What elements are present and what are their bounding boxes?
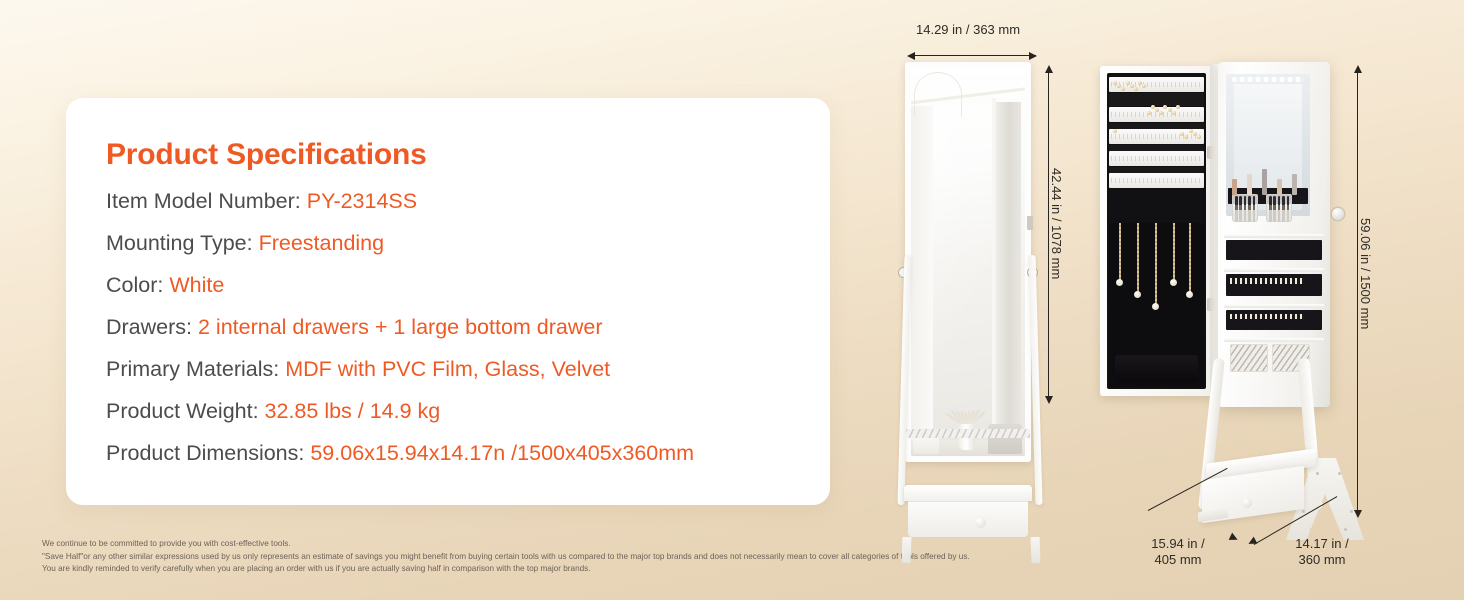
spec-label: Primary Materials: — [106, 357, 285, 381]
interior-shelf-2 — [1224, 268, 1324, 272]
earring-rack — [1109, 173, 1204, 188]
dimension-label-total-height: 59.06 in / 1500 mm — [1357, 218, 1373, 329]
makeup-brush — [1282, 196, 1285, 222]
product-image-closed-mirror-cabinet — [880, 55, 1080, 525]
reflection-doorway — [995, 102, 1021, 428]
screw-icon — [1344, 528, 1347, 531]
spec-row-product-dimensions: Product Dimensions: 59.06x15.94x14.17n /… — [106, 443, 830, 465]
screw-icon — [1310, 528, 1313, 531]
base-width-line-2: 405 mm — [1130, 552, 1226, 568]
jewelry-item — [1197, 135, 1201, 139]
reflection-arch — [914, 72, 962, 117]
makeup-brush — [1278, 196, 1281, 222]
ring-slot-row — [1230, 278, 1304, 284]
base-depth-line-1: 14.17 in / — [1274, 536, 1370, 552]
makeup-brush — [1248, 196, 1251, 222]
door-interior-velvet — [1107, 73, 1206, 389]
makeup-brush — [1239, 196, 1242, 222]
bench-top — [904, 485, 1032, 501]
spec-label: Color: — [106, 273, 169, 297]
hinge-icon-upper — [1207, 146, 1215, 159]
spec-value: MDF with PVC Film, Glass, Velvet — [285, 357, 610, 381]
hinge-icon-lower — [1207, 298, 1215, 311]
arrow-up-icon-total — [1354, 65, 1362, 73]
screw-icon — [1316, 472, 1319, 475]
ring-slot-row-2 — [1230, 314, 1304, 319]
jewelry-item — [1172, 111, 1176, 115]
reflection-left-wall — [911, 98, 933, 456]
spec-row-color: Color: White — [106, 275, 830, 297]
makeup-brush — [1273, 196, 1276, 222]
cosmetic-item — [1277, 179, 1282, 195]
storage-basket-left — [1230, 344, 1268, 372]
reflection-door-jamb — [992, 98, 996, 436]
jewelry-item — [1147, 111, 1151, 115]
door-latch — [1027, 216, 1033, 230]
base-depth-line-2: 360 mm — [1274, 552, 1370, 568]
earring-rack — [1109, 151, 1204, 166]
jewelry-item — [1126, 81, 1130, 85]
product-spec-banner: Product Specifications Item Model Number… — [0, 0, 1464, 600]
jewelry-item — [1189, 129, 1193, 133]
disclaimer-text: We continue to be committed to provide y… — [42, 538, 1282, 576]
dimension-label-base-depth: 14.17 in / 360 mm — [1274, 536, 1370, 569]
makeup-brush — [1269, 196, 1272, 222]
necklace — [1155, 223, 1157, 305]
spec-row-drawers: Drawers: 2 internal drawers + 1 large bo… — [106, 317, 830, 339]
led-light-strip — [1232, 77, 1304, 82]
screw-icon — [1350, 510, 1353, 513]
base-width-line-1: 15.94 in / — [1130, 536, 1226, 552]
cosmetic-item — [1262, 169, 1267, 195]
arrow-left-icon — [907, 52, 915, 60]
interior-shelf-4 — [1224, 338, 1324, 342]
velvet-pouch — [1115, 355, 1198, 383]
makeup-brush — [1287, 196, 1290, 222]
drawer-knob — [975, 517, 986, 528]
spec-row-primary-materials: Primary Materials: MDF with PVC Film, Gl… — [106, 359, 830, 381]
specification-list: Item Model Number: PY-2314SS Mounting Ty… — [106, 191, 830, 465]
makeup-brush — [1253, 196, 1256, 222]
spec-label: Mounting Type: — [106, 231, 259, 255]
makeup-brush — [1235, 196, 1238, 222]
cosmetic-item — [1247, 174, 1252, 195]
dimension-label-mirror-width: 14.29 in / 363 mm — [916, 22, 1020, 38]
product-specifications-card: Product Specifications Item Model Number… — [66, 98, 830, 505]
dimension-label-base-width: 15.94 in / 405 mm — [1130, 536, 1226, 569]
interior-shelf-1 — [1224, 234, 1324, 238]
base-drawer-knob — [1242, 498, 1252, 508]
interior-shelf-3 — [1224, 304, 1324, 308]
arrow-down-icon — [1045, 396, 1053, 404]
disclaimer-line-2: "Save Half"or any other similar expressi… — [42, 551, 1282, 564]
dimension-label-mirror-height: 42.44 in / 1078 mm — [1048, 168, 1064, 279]
necklace-hanging-area — [1109, 223, 1204, 387]
velvet-band — [1109, 93, 1204, 106]
interior-tray-1 — [1226, 240, 1322, 260]
jewelry-item — [1134, 87, 1138, 91]
necklace — [1137, 223, 1139, 293]
page-title: Product Specifications — [106, 138, 830, 171]
spec-label: Product Dimensions: — [106, 441, 310, 465]
jewelry-item — [1176, 105, 1180, 109]
disclaimer-line-1: We continue to be committed to provide y… — [42, 538, 1282, 551]
cabinet-interior — [1218, 62, 1330, 407]
dimension-line-mirror-width — [914, 55, 1036, 56]
makeup-brush — [1244, 196, 1247, 222]
necklace — [1189, 223, 1191, 293]
spec-value: 2 internal drawers + 1 large bottom draw… — [198, 315, 603, 339]
reflection-pampas-grass — [945, 388, 985, 428]
spec-value: 59.06x15.94x14.17n /1500x405x360mm — [310, 441, 694, 465]
spec-value: White — [169, 273, 224, 297]
cosmetic-item — [1232, 179, 1237, 195]
mirror-door-unit — [905, 62, 1031, 462]
screw-icon — [1338, 472, 1341, 475]
foot-left — [902, 537, 912, 563]
cosmetic-item — [1292, 174, 1297, 195]
jewelry-item — [1168, 108, 1172, 112]
arrow-up-icon — [1045, 65, 1053, 73]
open-door-panel — [1100, 66, 1213, 396]
interior-tray-3 — [1226, 310, 1322, 330]
disclaimer-line-3: You are kindly reminded to verify carefu… — [42, 563, 1282, 576]
mirror-glass-reflection — [911, 68, 1025, 456]
spec-label: Drawers: — [106, 315, 198, 339]
spec-row-model-number: Item Model Number: PY-2314SS — [106, 191, 830, 213]
product-image-open-jewelry-armoire — [1090, 58, 1350, 528]
spec-label: Item Model Number: — [106, 189, 307, 213]
necklace — [1119, 223, 1121, 281]
foot-right — [1031, 537, 1041, 563]
cabinet-knob — [1332, 208, 1344, 220]
screw-icon — [1302, 510, 1305, 513]
spec-label: Product Weight: — [106, 399, 265, 423]
spec-value: 32.85 lbs / 14.9 kg — [265, 399, 441, 423]
arrow-right-icon — [1029, 52, 1037, 60]
arrow-down-icon-total — [1354, 510, 1362, 518]
spec-value: Freestanding — [259, 231, 385, 255]
necklace — [1173, 223, 1175, 281]
bottom-drawer — [908, 501, 1028, 537]
wire-shelf — [906, 429, 1030, 438]
spec-row-product-weight: Product Weight: 32.85 lbs / 14.9 kg — [106, 401, 830, 423]
spec-value: PY-2314SS — [307, 189, 417, 213]
spec-row-mounting-type: Mounting Type: Freestanding — [106, 233, 830, 255]
